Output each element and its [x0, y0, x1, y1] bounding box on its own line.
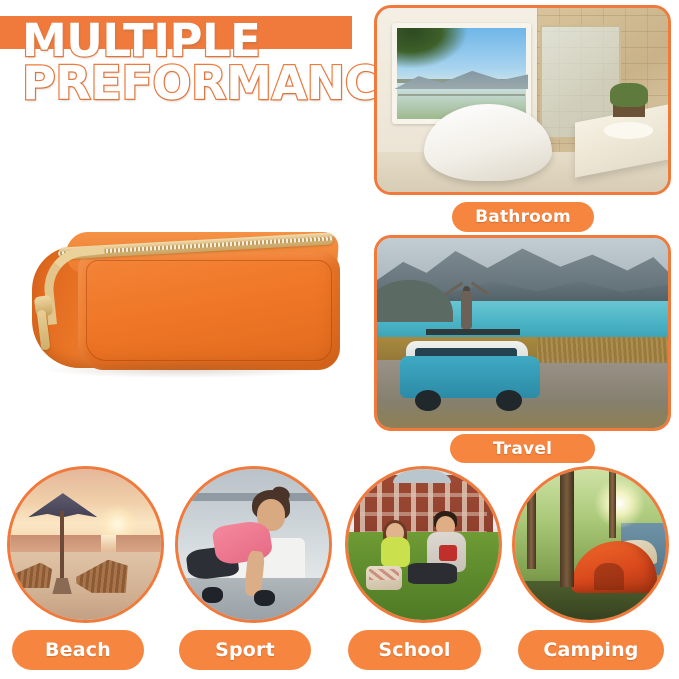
scene-label-school: School: [348, 630, 481, 670]
beach-sea: [10, 535, 161, 553]
school-photo: [348, 469, 499, 620]
scene-label-beach: Beach: [12, 630, 144, 670]
beach-umbrella-pole: [60, 511, 64, 583]
scene-card-school: [345, 466, 502, 623]
school-student-legs: [408, 563, 456, 584]
camping-tent-door: [594, 563, 624, 590]
scene-card-sport: [175, 466, 332, 623]
travel-van-roof-rack: [426, 329, 519, 335]
scene-card-travel: [374, 235, 671, 431]
scene-label-bathroom: Bathroom: [452, 202, 594, 232]
camping-sunburst: [594, 478, 645, 529]
camping-tree-trunk-right: [609, 469, 617, 538]
scene-card-camping: [512, 466, 669, 623]
travel-van-wheel-front: [415, 390, 441, 411]
beach-photo: [10, 469, 161, 620]
scene-card-bathroom: [374, 5, 671, 195]
scene-card-beach: [7, 466, 164, 623]
school-backpack: [366, 566, 402, 590]
camping-tree-trunk-center: [560, 469, 574, 587]
sport-athlete-glove-right: [254, 590, 275, 607]
product-infographic: MULTIPLE PREFORMANCE: [0, 0, 679, 679]
camping-photo: [515, 469, 666, 620]
bathroom-sink: [604, 122, 653, 139]
product-drop-shadow: [44, 362, 320, 378]
camping-tree-trunk-left: [527, 475, 536, 569]
scene-label-travel: Travel: [450, 434, 595, 463]
sport-athlete-glove-left: [202, 587, 223, 604]
travel-dry-grass: [537, 337, 668, 364]
pouch-front-panel: [78, 252, 340, 370]
travel-person-body: [461, 291, 471, 329]
beach-sky: [10, 469, 161, 541]
headline-banner: [0, 16, 352, 49]
scene-label-sport: Sport: [179, 630, 311, 670]
school-student-girl-top: [381, 537, 410, 567]
beach-sun-reflection: [101, 535, 116, 553]
sport-photo: [178, 469, 329, 620]
bathroom-plant: [610, 83, 648, 107]
school-brick-building: [354, 475, 493, 538]
travel-photo: [377, 238, 668, 428]
scene-label-camping: Camping: [518, 630, 664, 670]
headline-line-2: PREFORMANCE: [22, 62, 382, 105]
school-student-boy-shirt-graphic: [439, 545, 457, 562]
pencil-pouch-illustration: [30, 226, 340, 376]
product-hero-image: [8, 190, 358, 425]
bathroom-photo: [377, 8, 668, 192]
